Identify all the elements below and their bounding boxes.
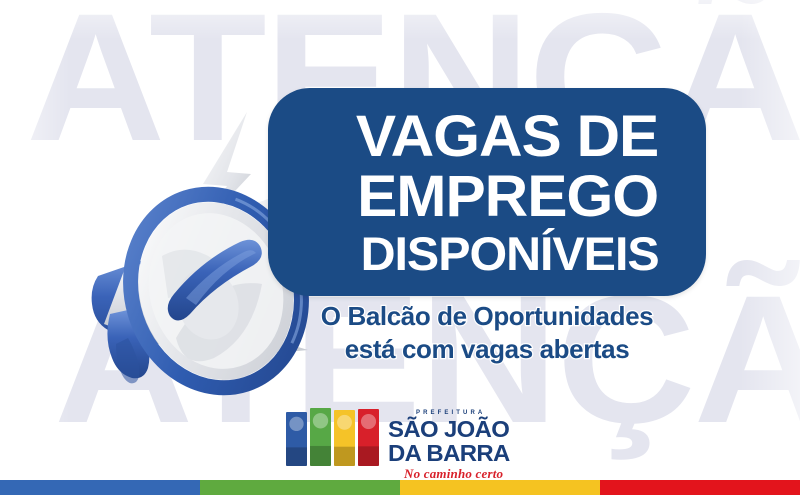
logo-city-line-1: SÃO JOÃO xyxy=(388,418,510,441)
bottom-bar-segment-green xyxy=(200,480,400,495)
logo-city-line-2: DA BARRA xyxy=(388,442,510,465)
logo-flag-panels xyxy=(286,408,379,466)
subtitle: O Balcão de Oportunidades está com vagas… xyxy=(268,300,706,367)
subtitle-line-1: O Balcão de Oportunidades xyxy=(268,300,706,333)
logo-flag-red xyxy=(358,409,379,466)
logo-flag-yellow xyxy=(334,410,355,466)
bottom-bar-segment-blue xyxy=(0,480,200,495)
headline-line-2: EMPREGO xyxy=(250,168,706,226)
bottom-bar-segment-yellow xyxy=(400,480,600,495)
headline-line-3: DISPONÍVEIS xyxy=(255,230,706,277)
bottom-color-bar xyxy=(0,480,800,495)
logo-slogan: No caminho certo xyxy=(404,467,505,480)
logo-flag-green xyxy=(310,408,331,466)
job-vacancy-poster: ATENÇÃO ATENÇÃO xyxy=(0,0,800,495)
bottom-bar-segment-red xyxy=(600,480,800,495)
logo-flag-blue xyxy=(286,412,307,466)
subtitle-line-2: está com vagas abertas xyxy=(268,333,706,366)
headline-line-1: VAGAS DE xyxy=(250,108,706,166)
logo-wordmark: PREFEITURA SÃO JOÃO DA BARRA No caminho … xyxy=(388,406,505,480)
headline-panel: VAGAS DE EMPREGO DISPONÍVEIS xyxy=(268,88,706,296)
prefecture-logo: PREFEITURA SÃO JOÃO DA BARRA No caminho … xyxy=(286,406,518,468)
